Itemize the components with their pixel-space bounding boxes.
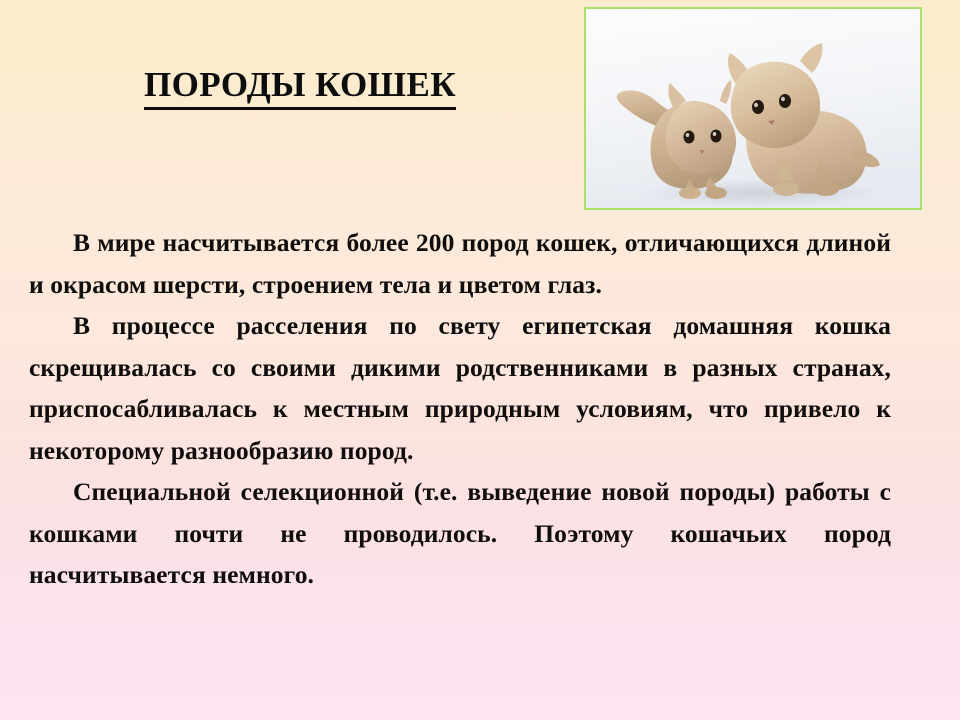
paragraph-2: В процессе расселения по свету египетска… <box>29 305 891 471</box>
kitten-photo-frame <box>584 7 922 210</box>
paragraph-3: Специальной селекционной (т.е. выведение… <box>29 471 891 596</box>
slide-title-block: ПОРОДЫ КОШЕК <box>30 66 570 110</box>
page-title: ПОРОДЫ КОШЕК <box>144 66 456 110</box>
slide-body-text: В мире насчитывается более 200 пород кош… <box>29 222 891 596</box>
paragraph-1: В мире насчитывается более 200 пород кош… <box>29 222 891 305</box>
slide-canvas: ПОРОДЫ КОШЕК <box>0 0 960 720</box>
kitten-photo <box>586 9 920 208</box>
